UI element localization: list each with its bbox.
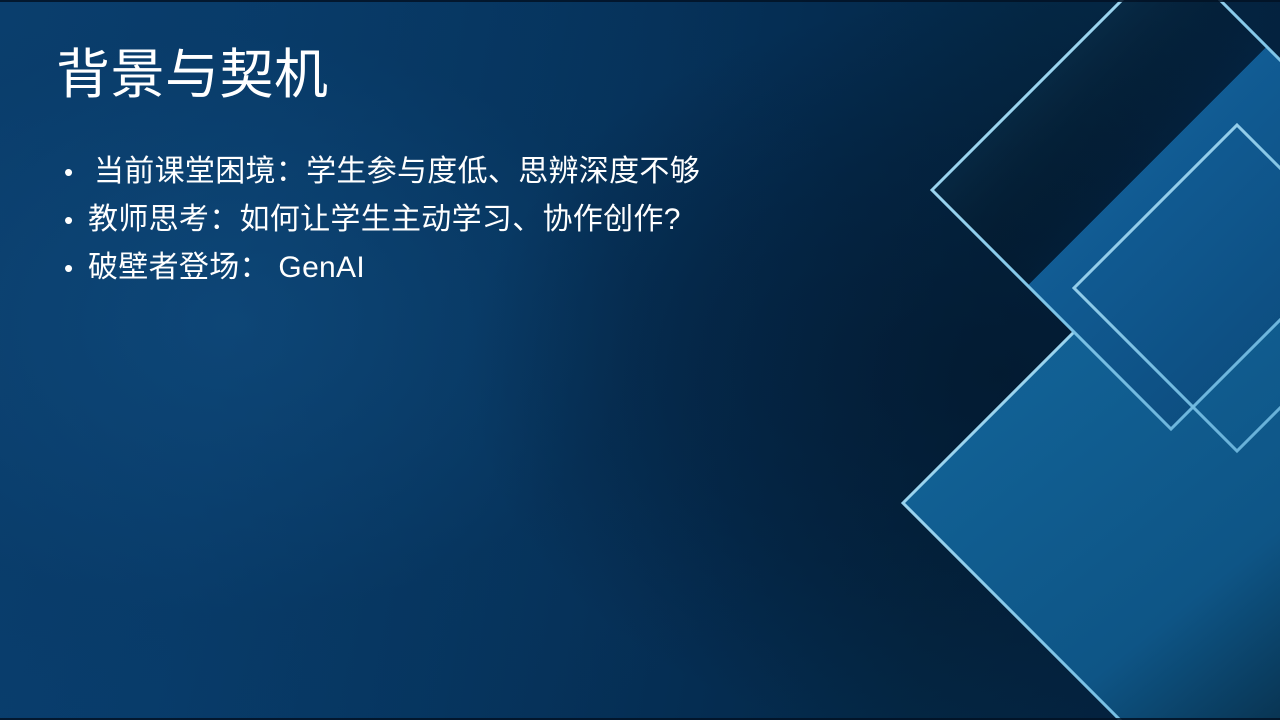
list-item: • 教师思考：如何让学生主动学习、协作创作?: [58, 200, 878, 248]
background-shadow: [0, 0, 1280, 720]
bullet-marker-icon: •: [58, 152, 88, 192]
slide-top-edge: [0, 0, 1280, 2]
list-item: • 当前课堂困境：学生参与度低、思辨深度不够: [58, 152, 878, 200]
bullet-marker-icon: •: [58, 248, 88, 288]
bullet-list: • 当前课堂困境：学生参与度低、思辨深度不够 • 教师思考：如何让学生主动学习、…: [58, 152, 878, 296]
slide-title: 背景与契机: [56, 44, 329, 108]
list-item-label: 教师思考：如何让学生主动学习、协作创作?: [88, 200, 681, 240]
list-item-label: 破壁者登场： GenAI: [88, 248, 365, 288]
list-item-label: 当前课堂困境：学生参与度低、思辨深度不够: [88, 152, 700, 192]
list-item: • 破壁者登场： GenAI: [58, 248, 878, 296]
slide-canvas: 背景与契机 • 当前课堂困境：学生参与度低、思辨深度不够 • 教师思考：如何让学…: [0, 0, 1280, 720]
bullet-marker-icon: •: [58, 200, 88, 240]
